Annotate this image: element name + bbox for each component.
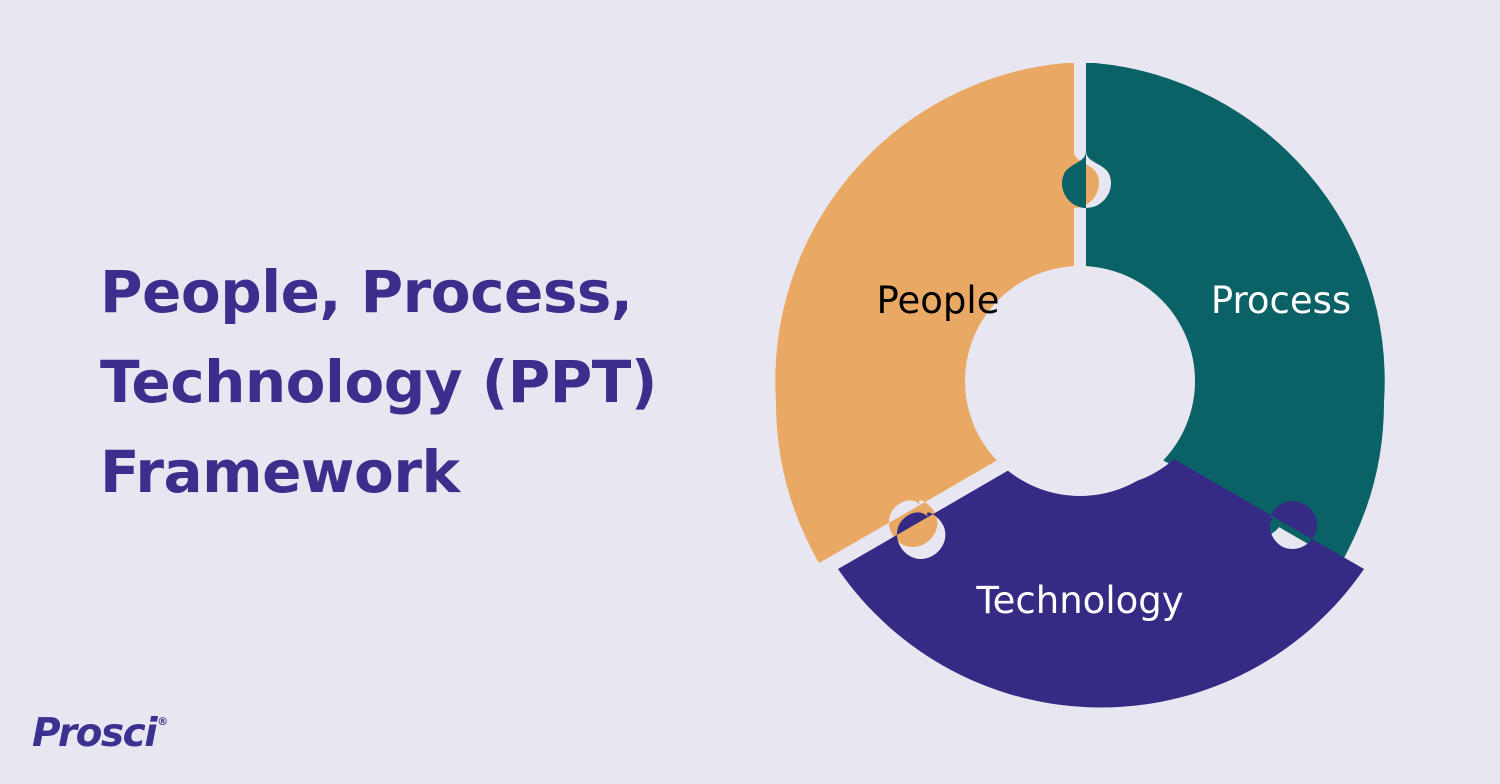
slide-canvas: People, Process, Technology (PPT) Framew…: [0, 0, 1500, 784]
prosci-logo[interactable]: Prosci ®: [32, 714, 168, 753]
segment-label-process: Process: [1211, 279, 1351, 322]
logo-trademark-icon: ®: [157, 716, 168, 727]
ppt-puzzle-diagram: People Process Technology: [740, 41, 1420, 721]
title-block: People, Process, Technology (PPT) Framew…: [100, 248, 700, 518]
logo-wordmark: Prosci: [32, 714, 156, 753]
center-hole: [965, 266, 1195, 496]
segment-label-people: People: [877, 279, 1000, 322]
ppt-diagram-svg: People Process Technology: [740, 41, 1420, 721]
page-title: People, Process, Technology (PPT) Framew…: [100, 248, 700, 518]
segment-label-technology: Technology: [975, 579, 1183, 622]
